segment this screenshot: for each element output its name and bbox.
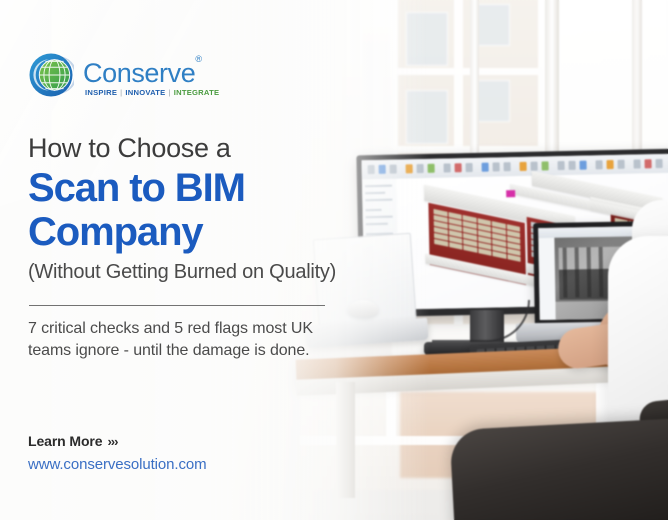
headline-line-2: Company	[28, 210, 245, 254]
trademark-symbol: ®	[195, 54, 201, 64]
brand-wordmark: Conserve®	[83, 56, 219, 87]
tagline-inspire: INSPIRE	[85, 88, 117, 97]
headline-line-1: Scan to BIM	[28, 166, 245, 210]
marketing-banner: Conserve® INSPIRE | INNOVATE | INTEGRATE…	[0, 0, 668, 520]
tagline-integrate: INTEGRATE	[174, 88, 220, 97]
tagline-innovate: INNOVATE	[125, 88, 165, 97]
body-line-2: teams ignore - until the damage is done.	[28, 340, 358, 362]
learn-more-cta[interactable]: Learn More ›››	[28, 433, 117, 449]
brand-logo[interactable]: Conserve® INSPIRE | INNOVATE | INTEGRATE	[28, 52, 219, 98]
headline-eyebrow: How to Choose a	[28, 133, 231, 163]
headline-parenthetical: (Without Getting Burned on Quality)	[28, 260, 336, 284]
content-layer: Conserve® INSPIRE | INNOVATE | INTEGRATE…	[0, 0, 430, 520]
tagline-sep-1: |	[120, 88, 122, 97]
body-line-1: 7 critical checks and 5 red flags most U…	[28, 318, 358, 340]
tagline-sep-2: |	[168, 88, 170, 97]
divider	[29, 305, 325, 306]
globe-logo-icon	[28, 52, 74, 98]
chevron-right-icon: ›››	[107, 435, 117, 448]
learn-more-label: Learn More	[28, 433, 102, 449]
body-copy: 7 critical checks and 5 red flags most U…	[28, 318, 358, 362]
office-chair	[449, 418, 668, 520]
brand-tagline: INSPIRE | INNOVATE | INTEGRATE	[85, 88, 219, 97]
page-title: Scan to BIM Company	[28, 166, 245, 254]
website-url[interactable]: www.conservesolution.com	[28, 456, 207, 473]
logo-text-block: Conserve® INSPIRE | INNOVATE | INTEGRATE	[83, 56, 219, 97]
